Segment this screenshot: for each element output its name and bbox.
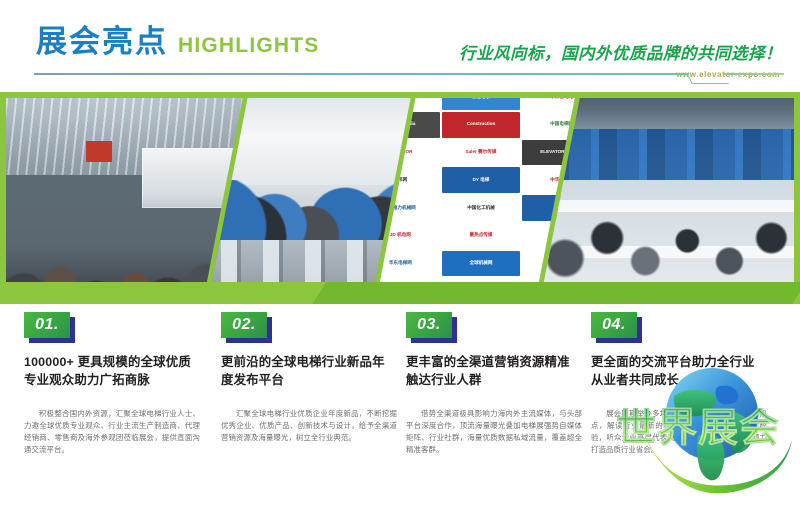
badge-04: 04. xyxy=(591,312,641,342)
highlight-card-01: 01. 100000+ 更具规模的全球优质专业观众助力广拓商脉 积极整合国内外资… xyxy=(24,312,200,456)
media-logo: 中国化工机械 xyxy=(442,195,521,221)
badge-number: 04. xyxy=(602,317,626,333)
badge-number: 01. xyxy=(35,317,59,333)
band-green-sweep xyxy=(0,282,800,304)
header-divider xyxy=(34,70,784,82)
page-header: 展会亮点 HIGHLIGHTS 行业风向标，国内外优质品牌的共同选择！ www.… xyxy=(0,0,800,92)
media-logo: DY 电梯 xyxy=(442,167,521,193)
badge-number: 02. xyxy=(232,317,256,333)
card-body-text: 积极整合国内外资源，汇聚全球电梯行业人士、力邀全球优质专业观众、行业主流生产制造… xyxy=(24,408,200,456)
card-body-text: 借势全渠道极具影响力海内外主流媒体，与头部平台深度合作，顶流海量曝光叠加电梯展强… xyxy=(406,408,582,456)
page-title-cn: 展会亮点 xyxy=(36,26,168,57)
badge-box: 04. xyxy=(591,312,637,338)
media-logo: 智慧物联 xyxy=(442,98,521,110)
badge-box: 02. xyxy=(221,312,267,338)
highlight-card-04: 04. 更全面的交流平台助力全行业从业者共同成长 展会同期举办多场行业发布会、聚… xyxy=(591,312,767,456)
badge-03: 03. xyxy=(406,312,456,342)
badge-02: 02. xyxy=(221,312,271,342)
media-logo: 全球机械网 xyxy=(442,251,521,277)
header-tagline: 行业风向标，国内外优质品牌的共同选择！ xyxy=(459,40,782,64)
badge-number: 03. xyxy=(417,317,441,333)
card-heading: 更丰富的全渠道营销资源精准触达行业人群 xyxy=(406,354,582,390)
photo-band-inner: 世界电梯智慧物联今日自动化Elevator IndiaConstruction中… xyxy=(6,98,794,288)
card-body-text: 展会同期举办多场行业发布会、聚焦行业前沿热点，解读行业最新的科技及前沿技术及成熟… xyxy=(591,408,767,456)
hall-sign-shape xyxy=(86,141,112,162)
media-logo: 华东电梯网 xyxy=(369,251,439,277)
conference-audience-photo xyxy=(533,98,794,288)
card-body-text: 汇聚全球电梯行业优质企业年度新品，不断挖掘优秀企业、优质产品、创新技术与设计，给… xyxy=(221,408,397,444)
page-title: 展会亮点 HIGHLIGHTS xyxy=(36,26,320,57)
card-heading: 更全面的交流平台助力全行业从业者共同成长 xyxy=(591,354,767,390)
page-title-en: HIGHLIGHTS xyxy=(178,35,320,56)
media-logo: 最热点传媒 xyxy=(442,223,521,249)
photo-panel-conference-audience xyxy=(533,98,794,288)
media-logo: Construction xyxy=(442,112,521,138)
highlight-card-02: 02. 更前沿的全球电梯行业新品年度发布平台 汇聚全球电梯行业优质企业年度新品，… xyxy=(221,312,397,444)
badge-01: 01. xyxy=(24,312,74,342)
card-heading: 更前沿的全球电梯行业新品年度发布平台 xyxy=(221,354,397,390)
divider-left-segment xyxy=(34,73,689,75)
card-heading: 100000+ 更具规模的全球优质专业观众助力广拓商脉 xyxy=(24,354,200,390)
media-logo: Saler 赛尔传媒 xyxy=(442,140,521,166)
badge-box: 01. xyxy=(24,312,70,338)
badge-box: 03. xyxy=(406,312,452,338)
photo-band: 世界电梯智慧物联今日自动化Elevator IndiaConstruction中… xyxy=(0,92,800,304)
highlight-card-03: 03. 更丰富的全渠道营销资源精准触达行业人群 借势全渠道极具影响力海内外主流媒… xyxy=(406,312,582,456)
divider-right-segment xyxy=(724,73,784,75)
divider-notch-icon xyxy=(686,73,729,84)
highlight-cards: 01. 100000+ 更具规模的全球优质专业观众助力广拓商脉 积极整合国内外资… xyxy=(0,312,800,500)
